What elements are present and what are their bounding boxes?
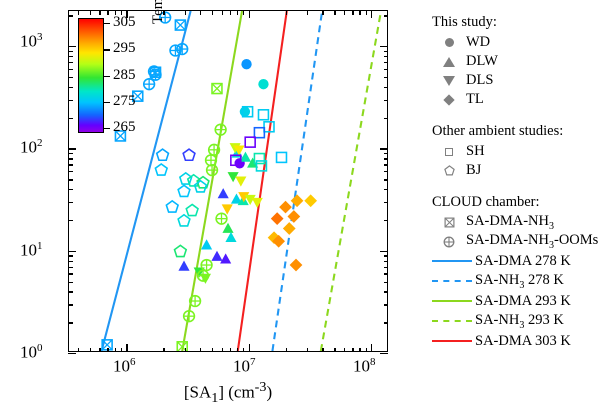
legend-line-swatch [432,300,472,302]
data-point-bj [175,245,187,256]
x-tick-top [237,10,238,15]
colorbar [78,18,104,133]
data-point-dlw [222,223,233,233]
x-tick [249,344,250,352]
data-point-bj [178,185,190,196]
filled-circle-icon [432,38,466,47]
data-point-tl [287,210,300,223]
colorbar-tick-label: 265 [113,119,136,136]
y-tick [68,15,73,16]
x-tick [99,348,100,353]
data-point-tl [304,194,317,207]
legend-line-swatch [432,320,472,322]
data-point-tl [283,222,296,235]
y-tick-right [384,51,389,52]
y-tick-right [384,189,389,190]
x-axis-title: [SA1] (cm-3) [0,379,456,407]
y-tick-right [384,255,389,256]
x-tick [121,348,122,353]
data-point-sh [245,137,255,147]
y-tick-right [384,56,389,57]
x-tick [344,348,345,353]
x-tick-top [99,10,100,15]
legend-label-wd: WD [466,34,490,51]
legend-item-sa-dma-nh3-ooms: SA-DMA-NH3-OOMs [432,232,600,251]
x-tick [286,348,287,353]
x-tick-top [286,10,287,15]
legend-label-sa-dma-nh3: SA-DMA-NH3 [466,213,554,232]
colorbar-tick [104,49,110,50]
x-tick [243,348,244,353]
data-point-bj [183,149,195,160]
x-tick [366,348,367,353]
x-tick [322,348,323,353]
y-tick-right [384,291,389,292]
y-tick-right [384,267,389,268]
legend-label-dlw: DLW [466,53,498,70]
y-tick [68,51,73,52]
x-tick [352,348,353,353]
y-tick [68,322,73,323]
y-tick-right [380,148,388,149]
colorbar-tick [104,128,110,129]
x-tick-label-1e7: 107 [233,356,256,377]
legend-item-dls: DLS [432,71,600,90]
y-tick-right [384,118,389,119]
x-tick [90,348,91,353]
filled-triangle-up-icon [432,57,466,67]
x-tick-top [344,10,345,15]
x-tick [371,344,372,352]
x-tick-top [107,10,108,15]
legend-line-swatch [432,340,472,342]
y-tick-right [384,171,389,172]
y-tick [68,171,73,172]
legend-line-label: SA-NH3 293 K [475,312,564,331]
legend-line-label: SA-DMA 278 K [475,253,571,270]
x-tick [334,348,335,353]
y-tick-right [384,87,389,88]
colorbar-tick [104,102,110,103]
x-tick-top [90,10,91,15]
data-point-dls [235,177,246,187]
legend-section-other-studies-title: Other ambient studies: [432,123,600,140]
data-point-wd [258,79,268,89]
x-tick [230,348,231,353]
legend-line-label: SA-NH3 278 K [475,272,564,291]
data-point-tl [271,212,284,225]
x-tick [185,348,186,353]
y-tick [68,353,76,354]
data-point-dls [252,198,263,208]
data-point-dlw [211,251,222,261]
legend-section-cloud-title: CLOUD chamber: [432,194,600,211]
x-tick-top [366,10,367,15]
x-tick-top [243,10,244,15]
data-point-bj [157,149,169,160]
data-point-tl [279,201,292,214]
colorbar-tick-label: 285 [113,67,136,84]
y-tick [68,255,73,256]
y-tick-right [384,15,389,16]
y-tick-right [384,153,389,154]
x-tick [115,348,116,353]
x-tick-label-1e8: 108 [353,356,376,377]
model-line-sa-nh3-293-k [321,11,381,351]
open-pentagon-icon [432,165,466,176]
plot-canvas [69,11,387,351]
x-tick-top [212,10,213,15]
x-tick-top [78,10,79,15]
y-tick-right [384,69,389,70]
x-tick-label-1e6: 106 [113,356,136,377]
x-tick-top [222,10,223,15]
data-point-bj [178,215,190,226]
x-tick [307,348,308,353]
y-tick [68,261,73,262]
legend-line-label: SA-DMA 303 K [475,333,571,350]
data-point-wd [240,107,250,117]
y-tick [68,56,73,57]
y-tick [68,273,73,274]
legend-section-this-study-title: This study: [432,14,600,31]
y-tick [68,46,76,47]
data-point-wd [241,59,251,69]
colorbar-tick-label: 305 [113,14,136,31]
y-tick-right [384,62,389,63]
y-tick [68,282,73,283]
y-tick [68,148,76,149]
y-tick [68,267,73,268]
y-tick-right [384,202,389,203]
y-tick [68,179,73,180]
legend-line-swatch [432,260,472,262]
legend: This study: WD DLW DLS TL Other ambient … [432,14,600,351]
x-tick [212,348,213,353]
y-tick [68,100,73,101]
y-tick [68,118,73,119]
filled-diamond-icon [432,96,466,104]
x-tick-top [322,10,323,15]
data-point-bj [186,204,198,215]
legend-item-tl: TL [432,90,600,109]
y-tick [68,158,73,159]
legend-line-item-4: SA-DMA 303 K [432,331,600,351]
legend-line-item-0: SA-DMA 278 K [432,251,600,271]
y-tick-label-1: 100 [20,342,43,363]
plus-circle-icon [432,236,466,248]
x-tick [107,348,108,353]
plot-area [68,10,388,352]
x-tick [237,348,238,353]
y-tick-right [384,77,389,78]
legend-label-dls: DLS [466,72,493,89]
x-tick-top [307,10,308,15]
y-tick [68,189,73,190]
y-tick [68,153,73,154]
y-tick-right [384,100,389,101]
y-tick-label-10: 101 [20,240,43,261]
data-point-sh [277,152,287,162]
x-tick-top [359,10,360,15]
colorbar-tick [104,76,110,77]
data-point-dlw [220,253,231,263]
x-tick [126,344,127,352]
legend-line-label: SA-DMA 293 K [475,293,571,310]
legend-line-item-1: SA-NH3 278 K [432,271,600,291]
y-tick [68,77,73,78]
model-line-sa-dma-278-k [102,11,191,351]
legend-item-bj: BJ [432,161,600,180]
legend-label-bj: BJ [466,162,481,179]
y-tick-right [384,179,389,180]
data-point-tl [290,259,303,272]
y-tick-right [384,282,389,283]
legend-lines: SA-DMA 278 KSA-NH3 278 KSA-DMA 293 KSA-N… [432,251,600,351]
y-tick [68,69,73,70]
data-point-tl [291,194,304,207]
y-tick-right [384,220,389,221]
x-tick-top [334,10,335,15]
y-tick-right [380,251,388,252]
colorbar-tick [104,23,110,24]
y-tick [68,291,73,292]
legend-line-item-2: SA-DMA 293 K [432,291,600,311]
y-tick-right [380,353,388,354]
x-tick [222,348,223,353]
legend-label-sh: SH [466,143,485,160]
y-tick-right [384,164,389,165]
data-point-dlw [201,239,212,249]
x-tick-top [371,10,372,18]
data-point-bj [155,164,167,175]
x-tick [163,348,164,353]
legend-line-item-3: SA-NH3 293 K [432,311,600,331]
x-tick-top [249,10,250,18]
open-square-icon [432,148,466,156]
legend-item-wd: WD [432,33,600,52]
y-tick-right [384,273,389,274]
y-tick-right [384,304,389,305]
x-tick-top [352,10,353,15]
figure-root: 103 102 101 100 106 107 108 [SA1] (cm-3)… [0,0,600,414]
y-tick [68,87,73,88]
y-tick-right [384,158,389,159]
x-tick [200,348,201,353]
y-tick [68,62,73,63]
legend-label-sa-dma-nh3-ooms: SA-DMA-NH3-OOMs [466,232,598,251]
data-point-dlw [225,232,236,242]
x-tick [359,348,360,353]
y-tick [68,202,73,203]
x-tick-top [185,10,186,15]
legend-item-sa-dma-nh3: SA-DMA-NH3 [432,213,600,232]
x-tick [78,348,79,353]
y-tick-label-1000: 103 [20,31,43,52]
y-tick-right [380,46,388,47]
legend-item-sh: SH [432,142,600,161]
y-tick [68,164,73,165]
y-tick-right [384,322,389,323]
y-tick [68,304,73,305]
colorbar-tick-label: 275 [113,93,136,110]
data-point-sh [258,110,268,120]
y-tick [68,220,73,221]
data-point-dlw [178,261,189,271]
x-tick-top [230,10,231,15]
x-tick-top [200,10,201,15]
data-point-dlw [218,188,229,198]
y-tick-label-100: 102 [20,137,43,158]
y-tick-right [384,261,389,262]
colorbar-tick-label: 295 [113,40,136,57]
y-tick [68,251,76,252]
legend-item-dlw: DLW [432,52,600,71]
legend-line-swatch [432,280,472,282]
data-point-sh [254,128,264,138]
filled-triangle-down-icon [432,76,466,86]
crossed-square-icon [432,217,466,228]
legend-label-tl: TL [466,91,484,108]
data-point-bj [166,201,178,212]
colorbar-title: Temperature (K) [150,0,167,24]
